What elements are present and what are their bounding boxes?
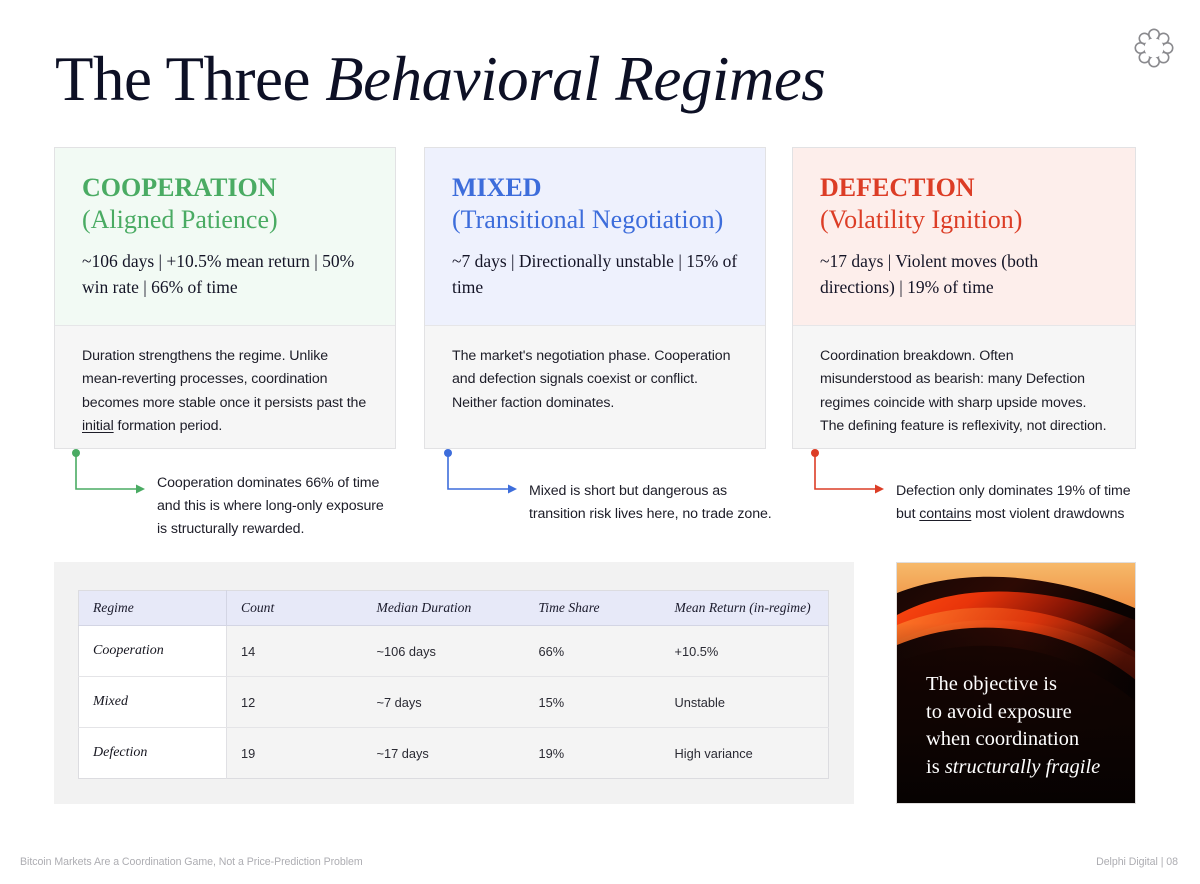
card-title-cooperation: COOPERATION (Aligned Patience) xyxy=(82,172,369,235)
cell-return: Unstable xyxy=(661,677,829,728)
summary-table-wrapper: Regime Count Median Duration Time Share … xyxy=(78,590,828,779)
table-header-share: Time Share xyxy=(525,591,661,626)
callout-line-2-before: but xyxy=(896,506,919,522)
callout-line-2: transition risk lives here, no trade zon… xyxy=(529,506,772,522)
page-title-part1: The Three xyxy=(55,44,325,114)
card-title-defection: DEFECTION (Volatility Ignition) xyxy=(820,172,1109,235)
cell-share: 66% xyxy=(525,626,661,677)
cell-return: High variance xyxy=(661,728,829,779)
table-header-regime: Regime xyxy=(79,591,227,626)
table-header-duration: Median Duration xyxy=(363,591,525,626)
regime-card-cooperation[interactable]: COOPERATION (Aligned Patience) ~106 days… xyxy=(54,147,396,449)
footer-left-text: Bitcoin Markets Are a Coordination Game,… xyxy=(20,856,363,868)
card-header-cooperation: COOPERATION (Aligned Patience) ~106 days… xyxy=(55,148,395,326)
callout-line-1: Mixed is short but dangerous as xyxy=(529,483,727,499)
card-title-line2: (Volatility Ignition) xyxy=(820,204,1109,236)
callout-line-2-after: most violent drawdowns xyxy=(971,506,1124,522)
card-header-defection: DEFECTION (Volatility Ignition) ~17 days… xyxy=(793,148,1135,326)
card-stats-cooperation: ~106 days | +10.5% mean return | 50% win… xyxy=(82,249,369,301)
regime-card-defection[interactable]: DEFECTION (Volatility Ignition) ~17 days… xyxy=(792,147,1136,449)
callout-line-2: and this is where long-only exposure xyxy=(157,498,384,514)
card-body-defection: Coordination breakdown. Often misunderst… xyxy=(793,326,1135,448)
cell-regime: Cooperation xyxy=(79,626,227,677)
callout-line-1: Cooperation dominates 66% of time xyxy=(157,475,379,491)
callout-defection-text: Defection only dominates 19% of time but… xyxy=(896,480,1131,526)
slide-root: The Three Behavioral Regimes COOPERATION… xyxy=(0,0,1200,884)
cell-duration: ~106 days xyxy=(363,626,525,677)
cell-regime: Defection xyxy=(79,728,227,779)
card-body-text-before: Duration strengthens the regime. Unlike … xyxy=(82,348,366,410)
callout-elbow-arrow-green-icon xyxy=(72,449,162,509)
card-title-line1: DEFECTION xyxy=(820,173,975,202)
quote-line-1: The objective is xyxy=(926,673,1057,695)
callout-line-1: Defection only dominates 19% of time xyxy=(896,483,1131,499)
cell-regime: Mixed xyxy=(79,677,227,728)
callout-elbow-arrow-red-icon xyxy=(811,449,901,509)
table-row: Mixed 12 ~7 days 15% Unstable xyxy=(79,677,829,728)
quote-line-2: to avoid exposure xyxy=(926,701,1072,723)
callout-line-3: is structurally rewarded. xyxy=(157,521,304,537)
regimes-table: Regime Count Median Duration Time Share … xyxy=(78,590,829,779)
quote-line-3: when coordination xyxy=(926,728,1079,750)
callout-underlined-term: contains xyxy=(919,506,971,522)
card-title-line1: COOPERATION xyxy=(82,173,277,202)
footer-right-text: Delphi Digital | 08 xyxy=(1096,856,1178,868)
cell-duration: ~7 days xyxy=(363,677,525,728)
cell-share: 15% xyxy=(525,677,661,728)
callout-elbow-arrow-blue-icon xyxy=(444,449,534,509)
card-stats-mixed: ~7 days | Directionally unstable | 15% o… xyxy=(452,249,739,301)
table-row: Cooperation 14 ~106 days 66% +10.5% xyxy=(79,626,829,677)
table-header-return: Mean Return (in-regime) xyxy=(661,591,829,626)
card-body-underlined-term: initial xyxy=(82,418,114,434)
quote-text: The objective is to avoid exposure when … xyxy=(926,671,1121,781)
callout-cooperation-text: Cooperation dominates 66% of time and th… xyxy=(157,472,384,541)
card-body-mixed: The market's negotiation phase. Cooperat… xyxy=(425,326,765,448)
cell-share: 19% xyxy=(525,728,661,779)
callout-annotations: Cooperation dominates 66% of time and th… xyxy=(54,449,1136,544)
page-title: The Three Behavioral Regimes xyxy=(55,46,825,112)
quote-line-4-italic: structurally fragile xyxy=(945,756,1100,778)
cell-duration: ~17 days xyxy=(363,728,525,779)
callout-mixed-text: Mixed is short but dangerous as transiti… xyxy=(529,480,772,526)
quote-image-card: The objective is to avoid exposure when … xyxy=(896,562,1136,804)
card-stats-defection: ~17 days | Violent moves (both direction… xyxy=(820,249,1109,301)
table-header-row: Regime Count Median Duration Time Share … xyxy=(79,591,829,626)
regime-cards: COOPERATION (Aligned Patience) ~106 days… xyxy=(54,147,1136,449)
table-row: Defection 19 ~17 days 19% High variance xyxy=(79,728,829,779)
quote-line-4-plain: is xyxy=(926,756,945,778)
regime-card-mixed[interactable]: MIXED (Transitional Negotiation) ~7 days… xyxy=(424,147,766,449)
page-title-part2: Behavioral Regimes xyxy=(325,44,825,114)
delphi-loops-logo-icon xyxy=(1132,26,1176,70)
card-title-mixed: MIXED (Transitional Negotiation) xyxy=(452,172,739,235)
cell-count: 12 xyxy=(227,677,363,728)
summary-table-panel: Regime Count Median Duration Time Share … xyxy=(54,562,854,804)
card-title-line2: (Transitional Negotiation) xyxy=(452,204,739,236)
cell-count: 14 xyxy=(227,626,363,677)
cell-return: +10.5% xyxy=(661,626,829,677)
card-title-line2: (Aligned Patience) xyxy=(82,204,369,236)
table-header-count: Count xyxy=(227,591,363,626)
cell-count: 19 xyxy=(227,728,363,779)
card-header-mixed: MIXED (Transitional Negotiation) ~7 days… xyxy=(425,148,765,326)
card-body-cooperation: Duration strengthens the regime. Unlike … xyxy=(55,326,395,448)
card-title-line1: MIXED xyxy=(452,173,542,202)
card-body-text-after: formation period. xyxy=(114,418,223,434)
